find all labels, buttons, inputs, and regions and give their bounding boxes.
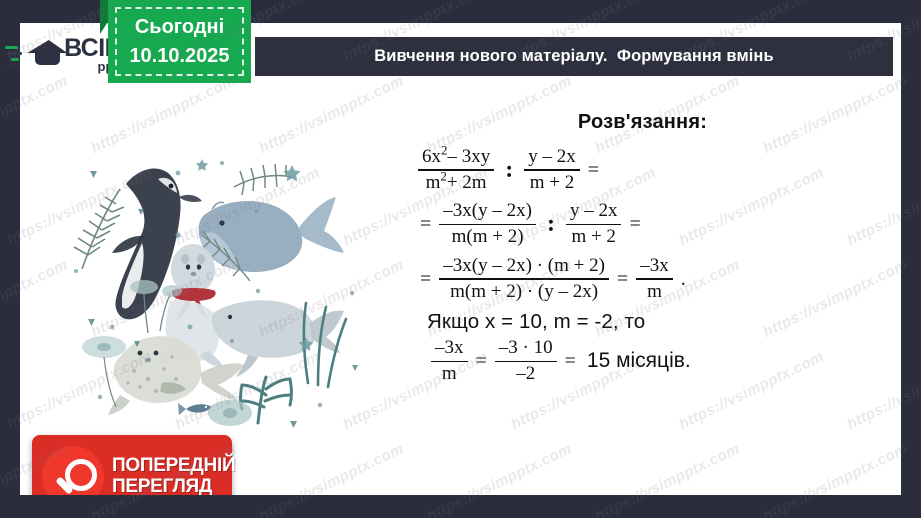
date-value: 10.10.2025 xyxy=(129,42,229,71)
divide-operator: : xyxy=(539,211,563,238)
fraction-numerator: –3 · 10 xyxy=(495,336,557,360)
slide-frame: Розв'язання: 6x2– 3xy m2+ 2m : y – 2x m … xyxy=(0,0,921,518)
fraction-final-b: –3 · 10 –2 xyxy=(492,336,560,386)
fraction-3a: –3x(y – 2x) · (m + 2) m(m + 2) · (y – 2x… xyxy=(436,254,612,304)
fraction-2a: –3x(y – 2x) m(m + 2) xyxy=(436,199,539,249)
substitution-text: Якщо x = 10, m = -2, то xyxy=(427,310,835,334)
ribbon-body: Сьогодні 10.10.2025 xyxy=(108,0,251,83)
fern-topright-icon xyxy=(234,164,292,195)
fraction-numerator: y – 2x xyxy=(524,145,580,169)
equation-line-2: = –3x(y – 2x) m(m + 2) : y – 2x m + 2 = xyxy=(415,199,835,249)
final-answer: 15 місяців. xyxy=(581,349,691,373)
slide-canvas: Розв'язання: 6x2– 3xy m2+ 2m : y – 2x m … xyxy=(20,23,901,495)
preview-label-line1: ПОПЕРЕДНІЙ xyxy=(112,456,235,477)
fraction-numerator: –3x xyxy=(636,254,673,278)
fraction-numerator: 6x2– 3xy xyxy=(418,145,494,169)
fraction-denominator: m2+ 2m xyxy=(422,171,491,195)
fraction-numerator: –3x xyxy=(431,336,468,360)
fraction-denominator: –2 xyxy=(512,362,539,386)
header-title: Вивчення нового матеріалу. Формування вм… xyxy=(374,47,774,66)
fraction-1a: 6x2– 3xy m2+ 2m xyxy=(415,145,497,195)
preview-button[interactable]: ПОПЕРЕДНІЙ ПЕРЕГЛЯД xyxy=(32,435,232,495)
fern-left-icon xyxy=(74,189,124,269)
fraction-denominator: m(m + 2) xyxy=(448,225,528,249)
equation-final: –3x m = –3 · 10 –2 = 15 місяців. xyxy=(415,336,835,386)
fraction-numerator: –3x(y – 2x) xyxy=(439,199,536,223)
fraction-denominator: m xyxy=(643,280,666,304)
illustration-svg xyxy=(52,151,382,431)
fraction-denominator: m xyxy=(438,362,461,386)
equals-operator: = xyxy=(471,350,492,373)
preview-button-label: ПОПЕРЕДНІЙ ПЕРЕГЛЯД xyxy=(112,456,235,495)
equals-operator: = xyxy=(624,213,645,236)
fraction-numerator: –3x(y – 2x) · (m + 2) xyxy=(439,254,609,278)
fraction-1b: y – 2x m + 2 xyxy=(521,145,583,195)
fraction-denominator: m + 2 xyxy=(567,225,620,249)
equals-operator: = xyxy=(415,213,436,236)
graduation-cap-icon xyxy=(28,35,61,73)
fish-icon xyxy=(178,403,212,415)
fraction-numerator: y – 2x xyxy=(566,199,622,223)
equation-line-1: 6x2– 3xy m2+ 2m : y – 2x m + 2 = xyxy=(415,145,835,195)
fraction-final-a: –3x m xyxy=(428,336,471,386)
preview-label-line2: ПЕРЕГЛЯД xyxy=(112,477,235,495)
speed-lines-icon xyxy=(5,39,27,69)
equals-operator: = xyxy=(612,268,633,291)
fraction-denominator: m(m + 2) · (y – 2x) xyxy=(446,280,602,304)
divide-operator: : xyxy=(497,157,521,184)
whale-icon xyxy=(199,197,344,272)
fraction-3b: –3x m xyxy=(633,254,676,304)
section-header-bar: Вивчення нового матеріалу. Формування вм… xyxy=(255,37,893,76)
equals-operator: = xyxy=(583,159,604,182)
fraction-2b: y – 2x m + 2 xyxy=(563,199,625,249)
marine-animals-illustration xyxy=(52,151,382,431)
period-mark: . xyxy=(676,268,691,291)
equation-line-3: = –3x(y – 2x) · (m + 2) m(m + 2) · (y – … xyxy=(415,254,835,304)
equals-operator: = xyxy=(560,350,581,373)
equals-operator: = xyxy=(415,268,436,291)
today-date-badge: Сьогодні 10.10.2025 xyxy=(100,0,251,86)
solution-panel: Розв'язання: 6x2– 3xy m2+ 2m : y – 2x m … xyxy=(415,111,835,391)
date-label: Сьогодні xyxy=(135,13,224,42)
fraction-denominator: m + 2 xyxy=(526,171,579,195)
solution-heading: Розв'язання: xyxy=(415,111,835,134)
magnifier-icon xyxy=(42,446,104,495)
